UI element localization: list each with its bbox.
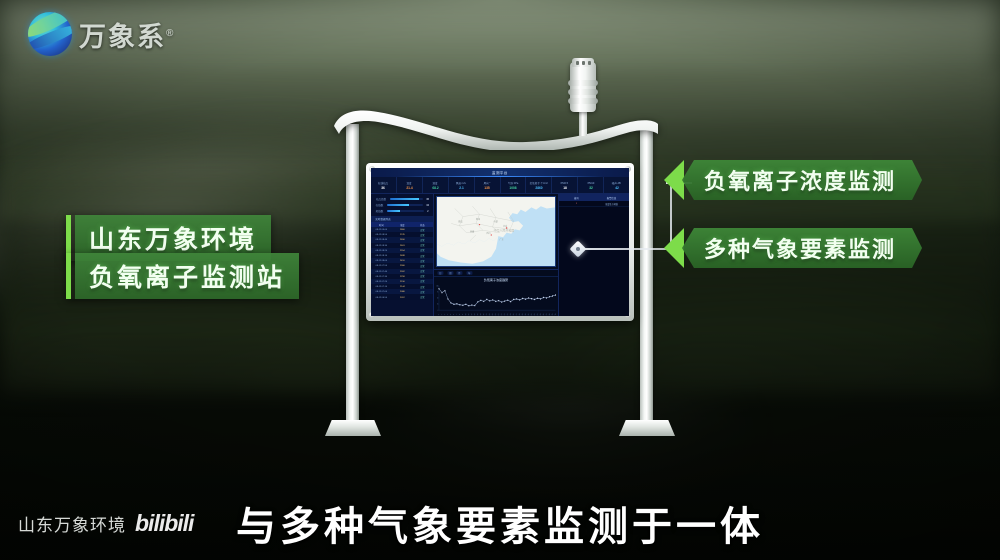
data-table-rows[interactable]: 08-12 09:002860正常08-12 08:502745正常08-12 … — [371, 227, 433, 316]
stat-item-2: 湿度68.2 — [423, 177, 449, 193]
svg-text:30: 30 — [525, 313, 527, 316]
registered-mark: ® — [166, 28, 175, 39]
summary-bar — [387, 204, 423, 206]
stat-label: 风速 m/s — [456, 181, 466, 184]
sensor-ring-2 — [568, 89, 598, 95]
table-cell: 2601 — [394, 244, 411, 246]
stat-value: 42 — [615, 186, 619, 190]
svg-text:12: 12 — [471, 313, 473, 316]
table-cell: 2366 — [394, 265, 411, 267]
table-cell: 正常 — [414, 269, 431, 272]
stat-value: 36 — [382, 186, 386, 190]
table-cell: 2012 — [394, 296, 411, 298]
display-frame: 监测平台 在线站点36温度21.4湿度68.2风速 m/s2.1风向 °135气… — [366, 163, 634, 321]
table-cell: 08-12 08:00 — [373, 259, 390, 261]
dashboard-title-bar: 监测平台 — [371, 168, 629, 177]
table-column-header: 状态 — [414, 223, 432, 226]
svg-text:31: 31 — [528, 313, 530, 316]
summary-key: 在线数 — [376, 203, 384, 206]
table-cell: 正常 — [414, 280, 431, 283]
sensor-vent-mid — [582, 61, 585, 65]
dashboard-body: 站点总数36在线数34离线数2 实时数据列表 时间浓度状态 08-12 09:0… — [371, 194, 629, 316]
table-cell: 正常 — [414, 290, 431, 293]
weather-sensor-icon — [566, 58, 600, 136]
callout-connector-horizontal — [584, 248, 672, 250]
summary-key: 站点总数 — [376, 197, 386, 200]
stat-item-1: 温度21.4 — [397, 177, 423, 193]
table-row[interactable]: 08-12 06:502012正常 — [371, 294, 433, 299]
label-left-2: 负氧离子监测站 — [66, 253, 299, 299]
table-cell: 2258 — [394, 275, 411, 277]
sensor-ring-1 — [568, 80, 598, 86]
callout-connector-vertical — [670, 183, 672, 250]
table-cell: 2410 — [394, 259, 411, 261]
table-cell: 正常 — [414, 249, 431, 252]
dashboard-center-panel: 新疆 青海 内蒙 西藏 四川 北京 广东 中华人民共和国 — [434, 194, 558, 316]
table-cell: 正常 — [414, 254, 431, 257]
label-left-1-text: 山东万象环境 — [89, 220, 257, 256]
alarm-column-header: 编号 — [562, 196, 592, 199]
alarm-table-header: 编号报警信息 — [559, 194, 629, 201]
table-cell: 2690 — [394, 239, 411, 241]
svg-text:100: 100 — [436, 285, 438, 287]
svg-text:23: 23 — [504, 313, 506, 316]
chart-range-chip[interactable]: 年 — [466, 271, 472, 274]
table-cell: 08-12 07:50 — [373, 265, 390, 267]
svg-text:16: 16 — [483, 313, 485, 316]
sign-post-right — [640, 124, 653, 424]
label-right-1-text: 负氧离子浓度监测 — [704, 164, 896, 196]
bilibili-logo: bilibili — [135, 510, 193, 537]
svg-text:15: 15 — [480, 313, 482, 316]
table-cell: 正常 — [414, 264, 431, 267]
svg-text:11: 11 — [468, 313, 470, 316]
alarm-cell: 浓度低于阈值 — [597, 202, 626, 205]
dashboard-stat-row: 在线站点36温度21.4湿度68.2风速 m/s2.1风向 °135气压 hPa… — [371, 177, 629, 194]
summary-bar — [390, 198, 423, 200]
table-cell: 08-12 07:00 — [373, 291, 390, 293]
label-right-2: 多种气象要素监测 — [678, 228, 922, 268]
svg-text:7: 7 — [456, 314, 458, 316]
stat-value: 2860 — [535, 186, 542, 190]
chart-range-chip[interactable]: 日 — [437, 271, 443, 274]
svg-text:3: 3 — [444, 314, 446, 316]
china-map[interactable]: 新疆 青海 内蒙 西藏 四川 北京 广东 中华人民共和国 — [436, 196, 556, 267]
svg-text:9: 9 — [462, 314, 464, 316]
bottom-watermark: 山东万象环境 bilibili — [18, 510, 193, 537]
screenshot-stage: 万象系® — [0, 0, 1000, 560]
sign-base-right — [619, 420, 675, 436]
stat-item-4: 风向 °135 — [475, 177, 501, 193]
sign-crossbar — [330, 98, 660, 150]
stat-item-6: 负氧离子 个/cm³2860 — [526, 177, 552, 193]
svg-text:50: 50 — [437, 297, 438, 299]
table-column-header: 时间 — [373, 223, 391, 226]
stat-label: 气压 hPa — [508, 181, 518, 184]
svg-text:36: 36 — [543, 313, 545, 316]
summary-kv-row: 在线数34 — [375, 203, 429, 207]
table-cell: 2086 — [394, 291, 411, 293]
sign-base-left — [325, 420, 381, 436]
svg-text:13: 13 — [474, 313, 476, 316]
stat-item-8: PM1032 — [578, 177, 604, 193]
table-column-header: 浓度 — [393, 223, 411, 226]
table-cell: 08-12 08:50 — [373, 234, 390, 236]
svg-text:5: 5 — [450, 314, 452, 316]
svg-text:0: 0 — [438, 310, 439, 312]
summary-value: 2 — [427, 209, 428, 212]
chart-range-chip[interactable]: 月 — [457, 271, 463, 274]
sensor-vent-left — [576, 61, 579, 65]
table-cell: 08-12 07:20 — [373, 280, 390, 282]
sensor-ring-3 — [568, 98, 598, 104]
summary-value: 36 — [426, 197, 429, 200]
brand-name: 万象系® — [79, 15, 175, 54]
svg-text:四川: 四川 — [487, 232, 491, 235]
right-panel-filler — [559, 207, 629, 316]
dashboard-screen[interactable]: 监测平台 在线站点36温度21.4湿度68.2风速 m/s2.1风向 °135气… — [371, 168, 629, 316]
label-right-1-body: 负氧离子浓度监测 — [678, 160, 922, 200]
svg-text:25: 25 — [510, 313, 512, 316]
svg-text:35: 35 — [540, 313, 542, 316]
stat-label: 负氧离子 个/cm³ — [530, 181, 548, 184]
chart-toolbar[interactable]: 日周月年 — [434, 270, 558, 277]
svg-text:4: 4 — [447, 314, 449, 316]
table-cell: 08-12 08:40 — [373, 239, 390, 241]
table-cell: 2554 — [394, 249, 411, 251]
stat-value: 18 — [563, 186, 567, 190]
data-table-header: 时间浓度状态 — [371, 222, 433, 227]
svg-text:33: 33 — [534, 313, 536, 316]
svg-text:37: 37 — [546, 313, 548, 316]
label-left-2-text: 负氧离子监测站 — [89, 258, 285, 294]
dashboard-title: 监测平台 — [492, 170, 508, 175]
svg-text:34: 34 — [537, 313, 539, 316]
stat-item-5: 气压 hPa1008 — [501, 177, 527, 193]
summary-bar — [387, 210, 424, 212]
table-cell: 2302 — [394, 270, 411, 272]
map-country-label: 中华人民共和国 — [494, 228, 515, 233]
alarm-cell: 1 — [562, 202, 591, 204]
table-cell: 08-12 08:10 — [373, 254, 390, 256]
stat-item-3: 风速 m/s2.1 — [449, 177, 475, 193]
svg-text:1: 1 — [438, 314, 440, 316]
svg-text:20: 20 — [495, 313, 497, 316]
stat-label: 湿度 — [433, 181, 438, 184]
table-cell: 正常 — [414, 295, 431, 298]
svg-text:38: 38 — [549, 313, 551, 316]
svg-text:40: 40 — [555, 313, 557, 316]
svg-text:14: 14 — [477, 313, 479, 316]
table-cell: 08-12 08:20 — [373, 249, 390, 251]
stat-value: 135 — [484, 186, 489, 190]
dashboard-left-panel: 站点总数36在线数34离线数2 实时数据列表 时间浓度状态 08-12 09:0… — [371, 194, 434, 316]
table-cell: 08-12 06:50 — [373, 296, 390, 298]
table-cell: 2488 — [394, 254, 411, 256]
table-cell: 08-12 07:40 — [373, 270, 390, 272]
svg-text:26: 26 — [513, 313, 515, 316]
table-cell: 正常 — [414, 228, 431, 231]
summary-key: 离线数 — [376, 209, 384, 212]
label-right-2-text: 多种气象要素监测 — [704, 232, 896, 264]
stat-value: 1008 — [509, 186, 516, 190]
stat-label: 风向 ° — [484, 181, 491, 184]
table-cell: 08-12 07:10 — [373, 285, 390, 287]
summary-value: 34 — [426, 203, 429, 206]
chart-plot: 1234567891011121314151617181920212223242… — [434, 277, 558, 316]
svg-text:18: 18 — [489, 313, 491, 316]
label-right-1: 负氧离子浓度监测 — [678, 160, 922, 200]
svg-text:24: 24 — [507, 313, 509, 316]
label-left-2-body: 负氧离子监测站 — [75, 253, 299, 299]
brand-name-text: 万象系 — [79, 22, 166, 52]
svg-text:75: 75 — [437, 291, 438, 293]
summary-kv-row: 站点总数36 — [375, 197, 429, 201]
brand-watermark: 万象系® — [28, 12, 175, 56]
callout-pointer-center — [576, 247, 580, 251]
stat-label: 噪声 dB — [612, 181, 621, 184]
table-cell: 正常 — [414, 244, 431, 247]
summary-kv-row: 离线数2 — [375, 209, 429, 213]
table-cell: 08-12 07:30 — [373, 275, 390, 277]
globe-swirl-icon — [28, 12, 72, 56]
table-cell: 2144 — [394, 285, 411, 287]
stat-value: 68.2 — [432, 186, 438, 190]
label-right-2-body: 多种气象要素监测 — [678, 228, 922, 268]
trend-chart[interactable]: 日周月年 负氧离子浓度趋势 12345678910111213141516171… — [434, 269, 558, 316]
svg-text:19: 19 — [492, 313, 494, 316]
stat-label: PM10 — [587, 181, 594, 184]
svg-text:25: 25 — [437, 304, 438, 306]
chart-range-chip[interactable]: 周 — [447, 271, 453, 274]
stat-value: 2.1 — [459, 186, 464, 190]
stat-item-0: 在线站点36 — [371, 177, 397, 193]
sign-post-left — [346, 124, 359, 424]
svg-text:28: 28 — [519, 313, 521, 316]
stat-item-9: 噪声 dB42 — [604, 177, 629, 193]
table-cell: 正常 — [414, 233, 431, 236]
bottom-watermark-company: 山东万象环境 — [18, 511, 126, 536]
sensor-vent-right — [588, 61, 591, 65]
svg-text:17: 17 — [486, 313, 488, 316]
table-cell: 08-12 09:00 — [373, 228, 390, 230]
svg-text:39: 39 — [552, 313, 554, 316]
svg-text:22: 22 — [501, 313, 503, 316]
sensor-body — [570, 62, 596, 112]
stat-item-7: PM2.518 — [552, 177, 578, 193]
table-cell: 08-12 08:30 — [373, 244, 390, 246]
svg-text:10: 10 — [465, 313, 467, 316]
table-cell: 正常 — [414, 275, 431, 278]
stat-label: PM2.5 — [561, 181, 568, 184]
svg-text:21: 21 — [498, 313, 500, 316]
svg-text:32: 32 — [531, 313, 533, 316]
table-cell: 正常 — [414, 259, 431, 262]
stat-value: 32 — [589, 186, 593, 190]
chart-title: 负氧离子浓度趋势 — [440, 277, 552, 282]
stat-value: 21.4 — [406, 186, 412, 190]
stat-label: 在线站点 — [378, 181, 388, 184]
stat-label: 温度 — [407, 181, 412, 184]
svg-text:29: 29 — [522, 313, 524, 316]
data-table-title: 实时数据列表 — [375, 217, 390, 220]
table-cell: 2745 — [394, 234, 411, 236]
summary-kv-block: 站点总数36在线数34离线数2 — [371, 194, 433, 216]
alarm-column-header: 报警信息 — [597, 196, 627, 199]
svg-text:27: 27 — [516, 313, 518, 316]
table-cell: 2190 — [394, 280, 411, 282]
dashboard-right-panel: 编号报警信息 1浓度低于阈值 — [558, 194, 629, 316]
svg-text:8: 8 — [459, 314, 461, 316]
table-cell: 正常 — [414, 238, 431, 241]
table-cell: 2860 — [394, 228, 411, 230]
svg-text:6: 6 — [453, 314, 455, 316]
svg-text:2: 2 — [441, 314, 443, 316]
table-cell: 正常 — [414, 285, 431, 288]
